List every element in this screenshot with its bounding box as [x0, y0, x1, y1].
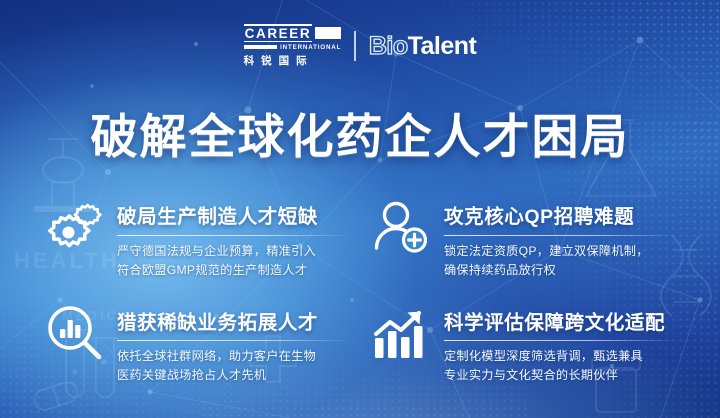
biotalent-logo: Bio Talent — [369, 32, 477, 61]
career-logo-second-row: INTERNATIONAL — [244, 44, 342, 51]
feature-divider — [117, 235, 351, 236]
career-logo-top-row: CAREER — [244, 24, 342, 42]
feature-text: 破局生产制造人才短缺 严守德国法规与企业预算，精准引入 符合欧盟GMP规范的生产… — [117, 196, 351, 280]
feature-divider — [444, 340, 678, 341]
feature-divider — [444, 235, 678, 236]
feature-item: 猎获稀缺业务拓展人才 依托全球社群网络，助力客户在生物 医药关键战场抢占人才先机 — [46, 302, 351, 386]
career-chinese-name: 科锐国际 — [244, 53, 314, 68]
header-logo-bar: CAREER INTERNATIONAL 科锐国际 Bio Talent — [0, 24, 720, 68]
vertical-divider-icon — [354, 31, 356, 61]
feature-item: 破局生产制造人才短缺 严守德国法规与企业预算，精准引入 符合欧盟GMP规范的生产… — [46, 196, 351, 280]
career-international-text: INTERNATIONAL — [280, 44, 341, 51]
career-wordmark: CAREER — [244, 24, 313, 42]
gears-icon — [46, 196, 104, 258]
biotalent-prefix: Bio — [369, 32, 408, 61]
feature-desc-line: 确保持续药品放行权 — [444, 261, 678, 280]
feature-text: 攻克核心QP招聘难题 锁定法定资质QP，建立双保障机制， 确保持续药品放行权 — [444, 196, 678, 280]
feature-desc-line: 严守德国法规与企业预算，精准引入 — [117, 242, 351, 261]
search-bar-chart-icon — [46, 302, 104, 364]
feature-text: 科学评估保障跨文化适配 定制化模型深度筛选背调，甄选兼具 专业实力与文化契合的长… — [444, 302, 678, 386]
feature-desc-line: 定制化模型深度筛选背调，甄选兼具 — [444, 347, 678, 366]
biotalent-suffix: Talent — [408, 32, 477, 61]
feature-heading: 破局生产制造人才短缺 — [117, 200, 351, 229]
growth-arrow-chart-icon — [373, 302, 431, 364]
career-international-logo: CAREER INTERNATIONAL 科锐国际 — [244, 24, 342, 68]
feature-heading: 猎获稀缺业务拓展人才 — [117, 306, 351, 335]
feature-desc-line: 依托全球社群网络，助力客户在生物 — [117, 347, 351, 366]
feature-description: 严守德国法规与企业预算，精准引入 符合欧盟GMP规范的生产制造人才 — [117, 242, 351, 280]
feature-desc-line: 符合欧盟GMP规范的生产制造人才 — [117, 261, 351, 280]
feature-item: 科学评估保障跨文化适配 定制化模型深度筛选背调，甄选兼具 专业实力与文化契合的长… — [373, 302, 678, 386]
feature-desc-line: 锁定法定资质QP，建立双保障机制， — [444, 242, 678, 261]
career-logo-block — [315, 27, 341, 39]
feature-description: 定制化模型深度筛选背调，甄选兼具 专业实力与文化契合的长期伙伴 — [444, 347, 678, 385]
user-plus-icon — [373, 196, 431, 258]
feature-description: 锁定法定资质QP，建立双保障机制， 确保持续药品放行权 — [444, 242, 678, 280]
feature-text: 猎获稀缺业务拓展人才 依托全球社群网络，助力客户在生物 医药关键战场抢占人才先机 — [117, 302, 351, 386]
feature-item: 攻克核心QP招聘难题 锁定法定资质QP，建立双保障机制， 确保持续药品放行权 — [373, 196, 678, 280]
feature-desc-line: 专业实力与文化契合的长期伙伴 — [444, 366, 678, 385]
poster-canvas: HEALTH MEDICAL CAREER INTERNATIONAL 科锐国际… — [0, 0, 720, 418]
feature-heading: 科学评估保障跨文化适配 — [444, 306, 678, 335]
feature-divider — [117, 340, 351, 341]
feature-desc-line: 医药关键战场抢占人才先机 — [117, 366, 351, 385]
page-title: 破解全球化药企人才困局 — [0, 98, 720, 167]
career-logo-bar — [244, 45, 277, 49]
feature-grid: 破局生产制造人才短缺 严守德国法规与企业预算，精准引入 符合欧盟GMP规范的生产… — [46, 196, 678, 385]
feature-heading: 攻克核心QP招聘难题 — [444, 200, 678, 229]
feature-description: 依托全球社群网络，助力客户在生物 医药关键战场抢占人才先机 — [117, 347, 351, 385]
